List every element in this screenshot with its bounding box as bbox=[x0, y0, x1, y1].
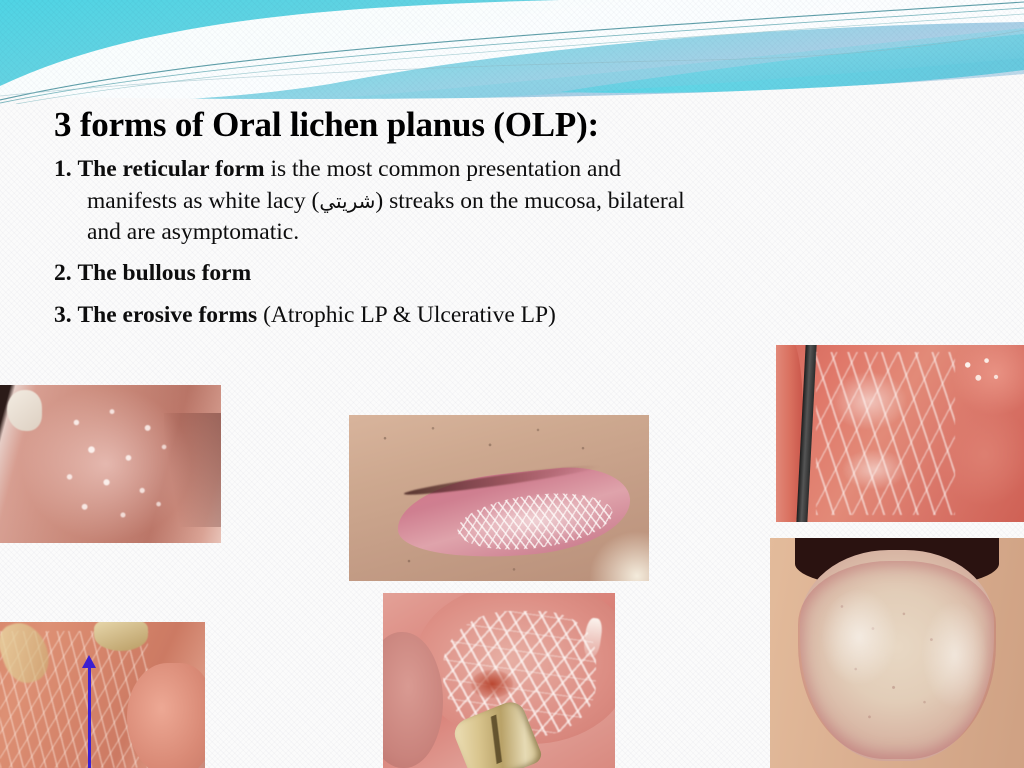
bullet-item-2: 2. The bullous form bbox=[54, 258, 949, 289]
photo-layer-tongue bbox=[127, 663, 205, 768]
bullet-lead-1: The reticular form bbox=[78, 156, 265, 182]
slide-header-decoration bbox=[0, 0, 1024, 104]
bullet-text-1a: is the most common presentation and bbox=[265, 156, 621, 182]
clinical-photo-protruded-tongue bbox=[770, 538, 1024, 768]
annotation-arrow-icon bbox=[88, 666, 91, 768]
bullet-line-1d: and are asymptomatic. bbox=[54, 217, 949, 248]
photo-layer-erosion bbox=[471, 670, 513, 698]
bullet-text-1b: manifests as white lacy ( bbox=[87, 188, 319, 214]
clinical-photo-erythematous-mucosa-striae bbox=[776, 345, 1024, 522]
presentation-slide: 3 forms of Oral lichen planus (OLP): 1. … bbox=[0, 0, 1024, 768]
bullet-item-1: 1. The reticular form is the most common… bbox=[54, 154, 949, 248]
photo-layer-highlight bbox=[589, 531, 649, 581]
slide-text-content: 3 forms of Oral lichen planus (OLP): 1. … bbox=[54, 104, 984, 337]
bullet-lead-3: The erosive forms bbox=[78, 302, 258, 328]
bullet-line-1b: manifests as white lacy (شريتي) streaks … bbox=[54, 186, 949, 217]
clinical-photo-buccal-mucosa-reticular bbox=[0, 385, 221, 543]
photo-layer-tooth bbox=[7, 390, 42, 431]
photo-layer-tongue-margin bbox=[798, 561, 996, 759]
photo-layer-shadow bbox=[164, 413, 221, 527]
page-title: 3 forms of Oral lichen planus (OLP): bbox=[54, 104, 984, 145]
arabic-gloss-text: شريتي bbox=[319, 189, 375, 213]
clinical-photo-buccal-mucosa-with-arrow bbox=[0, 622, 205, 768]
bullet-lead-2: The bullous form bbox=[78, 260, 252, 286]
bullet-text-3a: (Atrophic LP & Ulcerative LP) bbox=[257, 302, 556, 328]
bullet-number-1: 1. bbox=[54, 156, 72, 182]
bullet-number-3: 3. bbox=[54, 302, 72, 328]
bullet-item-3: 3. The erosive forms (Atrophic LP & Ulce… bbox=[54, 300, 949, 331]
banner-swoosh-graphic bbox=[0, 0, 1024, 104]
bullet-number-2: 2. bbox=[54, 260, 72, 286]
clinical-photo-wickham-striae-with-molar bbox=[383, 593, 615, 768]
clinical-photo-lower-lip-lacy-striae bbox=[349, 415, 649, 581]
photo-layer-saliva-bubbles bbox=[950, 352, 1010, 394]
bullet-text-1c: ) streaks on the mucosa, bilateral bbox=[375, 188, 684, 214]
photo-layer-white-striae bbox=[816, 352, 955, 515]
